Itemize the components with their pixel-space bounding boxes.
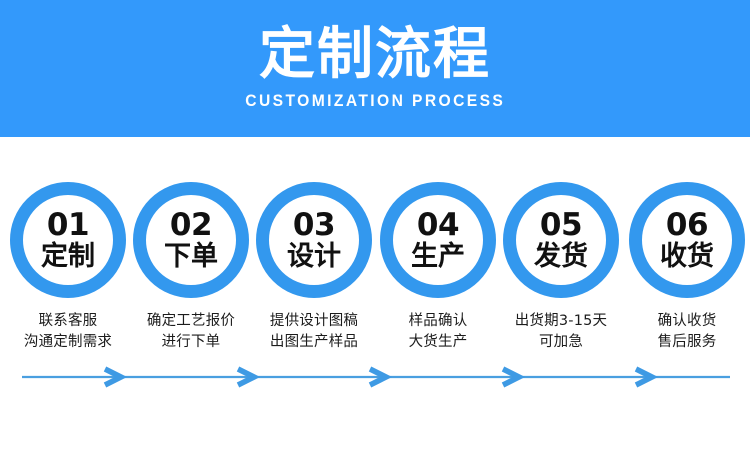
page-title: 定制流程 [259, 26, 491, 85]
step-caption-05: 出货期3-15天 可加急 [515, 311, 608, 352]
step-number-02: 02 [170, 210, 212, 241]
step-caption-line2-01: 沟通定制需求 [24, 332, 112, 353]
process-steps: 01 定制 联系客服 沟通定制需求 02 下单 确定工艺报价 进行下单 03 设… [0, 137, 750, 459]
step-caption-01: 联系客服 沟通定制需求 [24, 311, 112, 352]
step-caption-line1-01: 联系客服 [24, 311, 112, 332]
step-circle-02: 02 下单 [133, 182, 249, 298]
step-label-02: 下单 [164, 243, 218, 271]
step-number-01: 01 [47, 210, 89, 241]
timeline-arrow-svg [0, 360, 750, 394]
process-step-02: 02 下单 确定工艺报价 进行下单 [129, 182, 253, 352]
step-caption-line2-06: 售后服务 [658, 332, 717, 353]
step-number-03: 03 [293, 210, 335, 241]
process-arrow-timeline [0, 360, 750, 394]
step-caption-line2-03: 出图生产样品 [270, 332, 358, 353]
step-caption-line2-04: 大货生产 [409, 332, 468, 353]
step-circle-03: 03 设计 [256, 182, 372, 298]
process-step-05: 05 发货 出货期3-15天 可加急 [499, 182, 623, 352]
step-caption-line1-03: 提供设计图稿 [270, 311, 358, 332]
customization-process-infographic: 定制流程 CUSTOMIZATION PROCESS 01 定制 联系客服 沟通… [0, 0, 750, 459]
step-circle-05: 05 发货 [503, 182, 619, 298]
step-label-03: 设计 [287, 243, 341, 271]
step-caption-line2-02: 进行下单 [147, 332, 235, 353]
step-caption-03: 提供设计图稿 出图生产样品 [270, 311, 358, 352]
process-step-01: 01 定制 联系客服 沟通定制需求 [6, 182, 130, 352]
step-caption-06: 确认收货 售后服务 [658, 311, 717, 352]
step-caption-line1-02: 确定工艺报价 [147, 311, 235, 332]
step-label-01: 定制 [41, 243, 95, 271]
step-caption-line2-05: 可加急 [515, 332, 608, 353]
step-label-04: 生产 [411, 243, 465, 271]
process-step-03: 03 设计 提供设计图稿 出图生产样品 [252, 182, 376, 352]
page-subtitle: CUSTOMIZATION PROCESS [245, 91, 505, 111]
process-step-04: 04 生产 样品确认 大货生产 [376, 182, 500, 352]
step-circle-04: 04 生产 [380, 182, 496, 298]
step-label-05: 发货 [534, 243, 588, 271]
step-caption-line1-04: 样品确认 [409, 311, 468, 332]
step-caption-02: 确定工艺报价 进行下单 [147, 311, 235, 352]
process-step-06: 06 收货 确认收货 售后服务 [625, 182, 749, 352]
step-number-04: 04 [417, 210, 459, 241]
step-label-06: 收货 [660, 243, 714, 271]
step-number-05: 05 [540, 210, 582, 241]
step-number-06: 06 [666, 210, 708, 241]
step-caption-04: 样品确认 大货生产 [409, 311, 468, 352]
step-circle-06: 06 收货 [629, 182, 745, 298]
header-banner: 定制流程 CUSTOMIZATION PROCESS [0, 0, 750, 137]
step-circle-01: 01 定制 [10, 182, 126, 298]
step-caption-line1-06: 确认收货 [658, 311, 717, 332]
step-caption-line1-05: 出货期3-15天 [515, 311, 608, 332]
